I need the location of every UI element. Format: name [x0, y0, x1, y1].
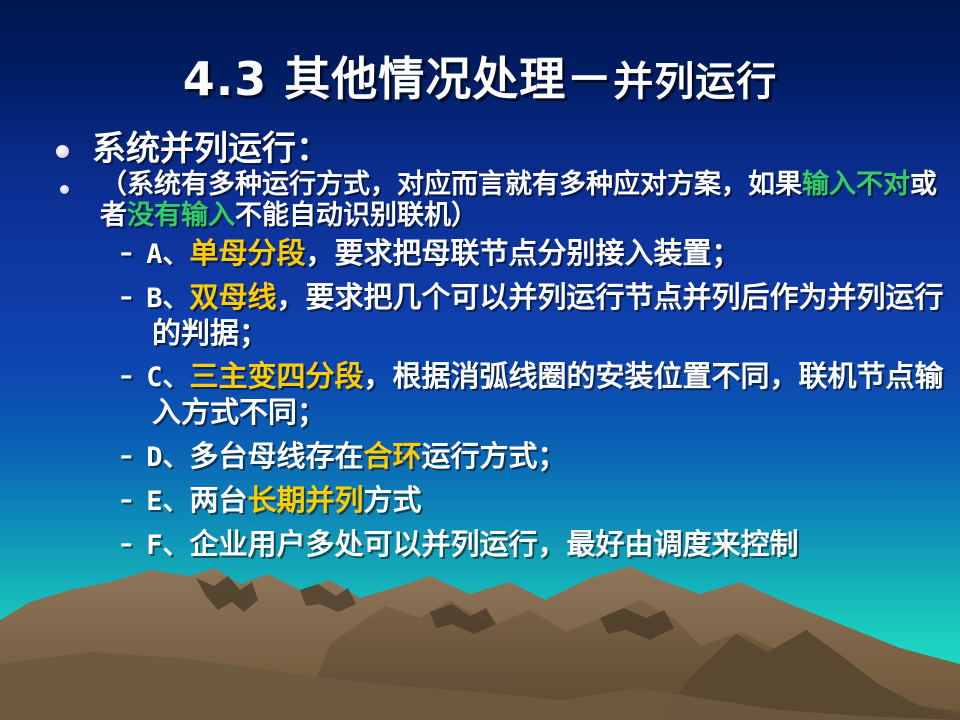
bullet-text-run: 两台 — [189, 483, 247, 517]
bullet-dot-icon — [56, 145, 69, 158]
bullet-level1-0: 系统并列运行： — [0, 132, 960, 167]
bullet-text-run: 系统并列运行： — [92, 129, 330, 169]
bullet-level2-F: – F、企业用户多处可以并列运行，最好由调度来控制 — [0, 527, 960, 562]
bullet-level2-B: – B、双母线，要求把几个可以并列运行节点并列后作为并列运行的判据； — [0, 280, 960, 350]
bullet-letter-label: D、 — [146, 442, 189, 473]
slide-title: 4.3 其他情况处理－并列运行 — [0, 56, 960, 102]
bullet-letter-label: F、 — [146, 530, 189, 561]
slide-title-dash: － — [566, 52, 613, 106]
bullet-text: （系统有多种运行方式，对应而言就有多种应对方案，如果输入不对或者没有输入不能自动… — [100, 169, 960, 232]
bullet-text: 系统并列运行： — [92, 132, 960, 167]
dash-bullet-icon: – — [120, 441, 146, 470]
bullet-text-run: 输入不对 — [802, 169, 910, 200]
bullet-text-run: 方式 — [364, 483, 422, 517]
bullet-text-run: 没有输入 — [127, 200, 235, 231]
bullet-text-run: 双母线 — [189, 280, 276, 314]
presentation-slide: 4.3 其他情况处理－并列运行 系统并列运行：（系统有多种运行方式，对应而言就有… — [0, 0, 960, 720]
bullet-dot-icon — [60, 185, 69, 194]
dash-bullet-icon: – — [120, 361, 146, 390]
bullet-letter-label: E、 — [146, 486, 189, 517]
bullet-level1-1: （系统有多种运行方式，对应而言就有多种应对方案，如果输入不对或者没有输入不能自动… — [0, 169, 960, 232]
dash-bullet-icon: – — [120, 485, 146, 514]
dash-bullet-icon: – — [120, 529, 146, 558]
slide-title-suffix: 并列运行 — [613, 59, 777, 105]
bullet-text-run: 合环 — [364, 439, 422, 473]
bullet-text-run: 企业用户多处可以并列运行，最好由调度来控制 — [189, 527, 798, 561]
slide-title-main: 4.3 其他情况处理 — [183, 52, 567, 106]
bullet-level2-A: – A、单母分段，要求把母联节点分别接入装置； — [0, 236, 960, 271]
bullet-text-run: 不能自动识别联机） — [235, 200, 478, 231]
bullet-text-run: 多台母线存在 — [189, 439, 363, 473]
slide-body: 系统并列运行：（系统有多种运行方式，对应而言就有多种应对方案，如果输入不对或者没… — [0, 132, 960, 572]
mountain-background-illustration — [0, 560, 960, 720]
bullet-level2-C: – C、三主变四分段，根据消弧线圈的安装位置不同，联机节点输入方式不同； — [0, 359, 960, 429]
dash-bullet-icon: – — [120, 238, 146, 267]
bullet-text-run: 运行方式； — [422, 439, 567, 473]
bullet-letter-label: B、 — [146, 283, 189, 314]
bullet-text-run: 三主变四分段 — [189, 359, 363, 393]
bullet-level2-E: – E、两台长期并列方式 — [0, 483, 960, 518]
bullet-text-run: ，要求把母联节点分别接入装置； — [306, 236, 741, 270]
bullet-text-run: 长期并列 — [248, 483, 364, 517]
dash-bullet-icon: – — [120, 282, 146, 311]
bullet-letter-label: C、 — [146, 362, 189, 393]
bullet-text-run: （系统有多种运行方式，对应而言就有多种应对方案，如果 — [100, 169, 802, 200]
bullet-level2-D: – D、多台母线存在合环运行方式； — [0, 439, 960, 474]
bullet-text-run: 单母分段 — [189, 236, 305, 270]
bullet-letter-label: A、 — [146, 239, 189, 270]
